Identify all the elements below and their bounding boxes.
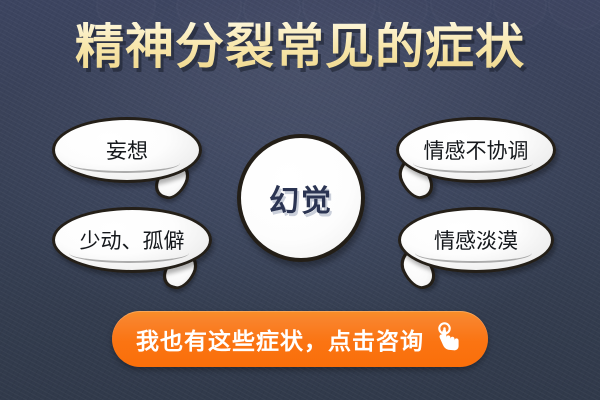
symptom-bubble-emotional-apathy[interactable]: 情感淡漠 — [398, 207, 554, 273]
title-area: 精神分裂常见的症状 — [0, 22, 600, 71]
hand-click-icon — [434, 322, 464, 356]
symptom-label: 少动、孤僻 — [80, 225, 185, 255]
symptom-label: 妄想 — [106, 135, 148, 165]
symptom-label: 情感不协调 — [424, 135, 529, 165]
symptom-bubble-emotional-incongruence[interactable]: 情感不协调 — [396, 117, 556, 183]
consult-cta-button[interactable]: 我也有这些症状，点击咨询 — [112, 311, 488, 367]
symptom-circle-hallucination[interactable]: 幻觉 — [237, 134, 365, 262]
poster-canvas: 精神分裂常见的症状 妄想 少动、孤僻 情感不协调 情感淡漠 幻觉 我也有这些症状… — [0, 0, 600, 400]
consult-cta-label: 我也有这些症状，点击咨询 — [136, 322, 424, 356]
symptom-label: 情感淡漠 — [434, 225, 518, 255]
page-title: 精神分裂常见的症状 — [75, 22, 525, 71]
center-symptom-label: 幻觉 — [269, 176, 333, 220]
symptom-bubble-delusion[interactable]: 妄想 — [52, 117, 202, 183]
symptom-bubble-withdrawal[interactable]: 少动、孤僻 — [52, 207, 212, 273]
